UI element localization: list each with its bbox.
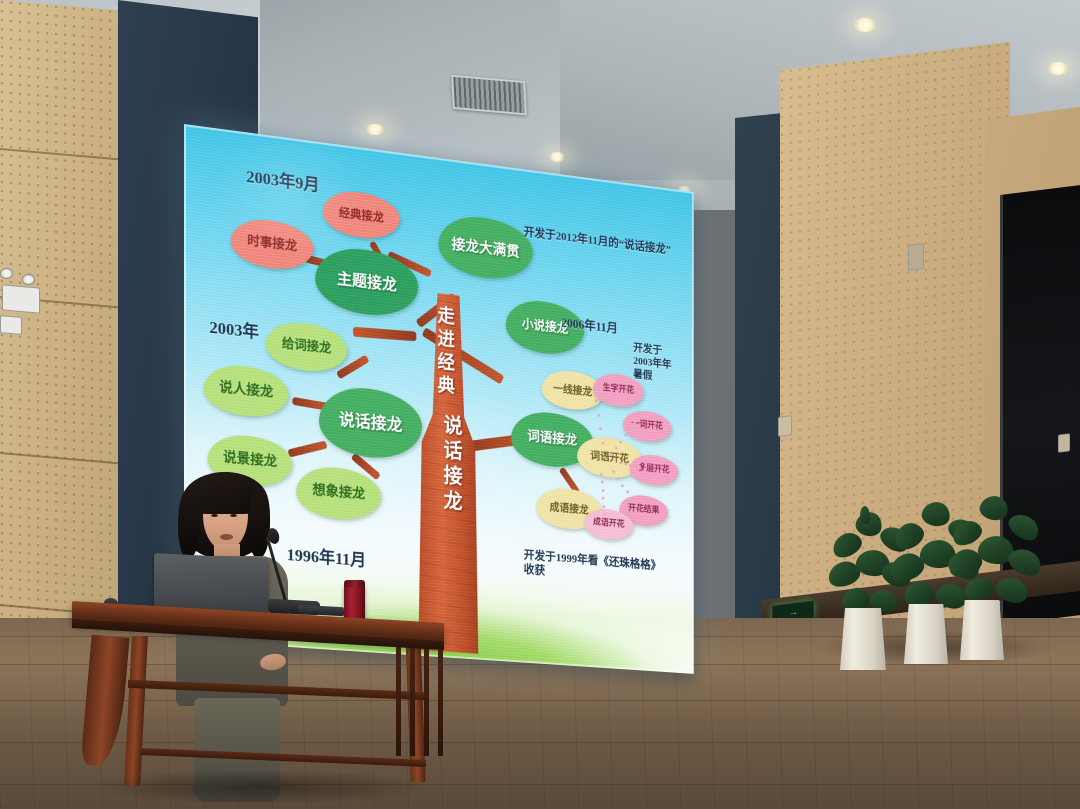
hair-side-left [178, 488, 200, 558]
connector-dot [603, 505, 606, 508]
connector-dot [611, 453, 614, 456]
wall-speaker [908, 243, 924, 271]
wall-device-right [1058, 433, 1070, 452]
connector-dot [601, 489, 604, 492]
connector-dot [604, 513, 607, 516]
mouth [220, 534, 233, 540]
connector-dot [631, 497, 634, 500]
mindmap-node-dckh: 多层开花 [630, 453, 678, 488]
connector-dot [621, 484, 624, 487]
mindmap-node-srjl: 说人接龙 [204, 362, 289, 420]
connector-dot [617, 477, 620, 480]
tree-branch [353, 327, 417, 341]
ceiling-downlight [1046, 62, 1070, 75]
connector-dot [635, 504, 638, 507]
connector-dot [597, 413, 600, 416]
trunk-label-line2: 说话接龙 [438, 413, 465, 516]
wall-camera-mount [778, 415, 792, 437]
thermos-lid [344, 580, 365, 587]
exit-arrow-icon: → [789, 607, 797, 617]
wall-outlet-panel[interactable] [2, 284, 40, 313]
emergency-light-icon [0, 268, 13, 279]
ceiling-downlight [852, 18, 878, 32]
mindmap-node-xxjl: 想象接龙 [296, 464, 381, 522]
plant-pot [902, 604, 950, 664]
plant-pot [838, 608, 888, 670]
screenshot-root: → 走进经典 说话接龙 接龙大满贯主题接龙经典接龙时事接龙小说接龙说话接龙给词接 [0, 0, 1080, 809]
potted-plant [946, 496, 1046, 608]
connector-dot [599, 428, 602, 431]
connector-dot [633, 421, 636, 424]
plant-pot [958, 600, 1006, 660]
connector-dot [629, 428, 632, 431]
mindmap-node-ztjl: 主题接龙 [315, 244, 418, 320]
desk-shadow [90, 770, 430, 804]
connector-dot [604, 456, 607, 459]
connector-dot [601, 481, 604, 484]
connector-dot [624, 463, 627, 466]
connector-dot [601, 442, 604, 445]
connector-dot [644, 467, 647, 470]
connector-dot [593, 385, 596, 388]
hair-side-right [248, 488, 270, 558]
ceiling-downlight [364, 124, 386, 135]
hvac-vent-icon [451, 75, 527, 116]
connector-dot [600, 473, 603, 476]
trunk-label-line1: 走进经典 [433, 304, 458, 399]
mindmap-node-ckh2: 成语开花 [584, 507, 633, 541]
mindmap-node-shjl: 说话接龙 [319, 384, 422, 462]
connector-dot [615, 447, 618, 450]
slide-annotation-a2003sep: 2003年9月 [246, 166, 370, 203]
slide-annotation-a2003sum: 开发于 2003年年 暑假 [633, 342, 685, 386]
chair[interactable] [392, 638, 454, 756]
connector-dot [629, 464, 632, 467]
mindmap-node-jldmg: 接龙大满贯 [438, 212, 532, 283]
connector-dot [612, 470, 615, 473]
mindmap-node-ssjl: 时事接龙 [231, 216, 314, 273]
slide-annotation-a2012: 开发于2012年11月的“说话接龙” [524, 225, 694, 263]
ceiling-downlight [548, 152, 566, 162]
mindmap-node-ickh: 一词开花 [623, 409, 672, 444]
emergency-light-icon [22, 274, 35, 285]
connector-dot [619, 461, 622, 464]
wall-switch-panel[interactable] [0, 315, 22, 335]
